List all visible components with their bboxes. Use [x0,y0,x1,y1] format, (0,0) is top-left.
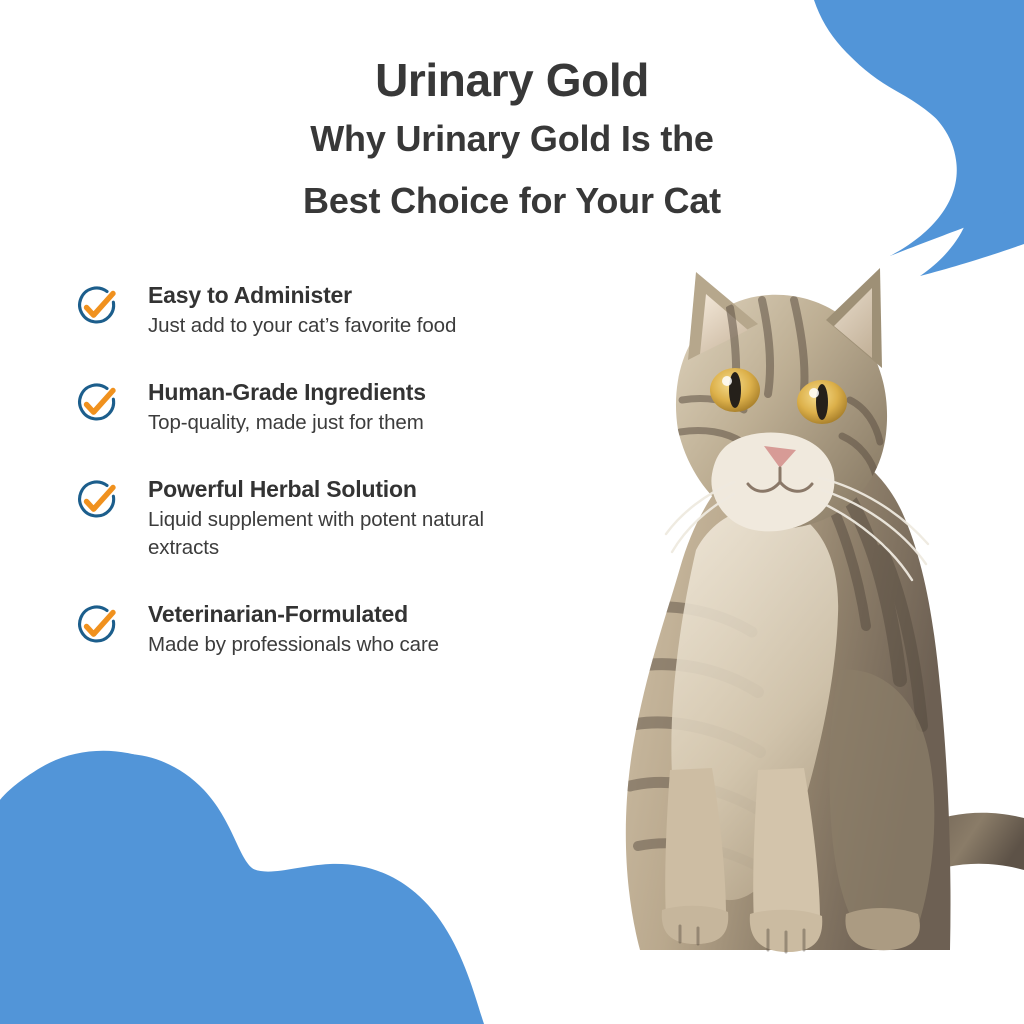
feature-text-block: Powerful Herbal Solution Liquid suppleme… [120,476,508,560]
feature-title: Human-Grade Ingredients [148,379,426,406]
blob-bottom-left [0,754,484,1024]
cat-eye-right-highlight [809,388,819,398]
page-subtitle-line-2: Best Choice for Your Cat [0,168,1024,230]
feature-text-block: Veterinarian-Formulated Made by professi… [120,601,439,658]
headline-block: Urinary Gold Why Urinary Gold Is the Bes… [0,56,1024,230]
feature-list: Easy to Administer Just add to your cat’… [74,282,524,658]
feature-item-powerful-herbal-solution: Powerful Herbal Solution Liquid suppleme… [74,476,524,560]
feature-item-veterinarian-formulated: Veterinarian-Formulated Made by professi… [74,601,524,658]
feature-title: Veterinarian-Formulated [148,601,439,628]
feature-description: Top-quality, made just for them [148,409,426,436]
feature-title: Powerful Herbal Solution [148,476,508,503]
check-circle-icon [74,603,120,649]
cat-eye-left-pupil [729,372,741,408]
cat-eye-left-highlight [722,376,732,386]
check-circle-icon [74,381,120,427]
feature-description: Just add to your cat’s favorite food [148,312,456,339]
cat-photo [520,250,1024,970]
feature-text-block: Human-Grade Ingredients Top-quality, mad… [120,379,426,436]
check-circle-icon [74,284,120,330]
feature-description: Made by professionals who care [148,631,439,658]
feature-description: Liquid supplement with potent natural ex… [148,506,508,560]
page-title: Urinary Gold [0,56,1024,106]
feature-item-human-grade-ingredients: Human-Grade Ingredients Top-quality, mad… [74,379,524,436]
feature-text-block: Easy to Administer Just add to your cat’… [120,282,456,339]
blob-bottom-left-upper [0,751,482,1024]
feature-title: Easy to Administer [148,282,456,309]
page-subtitle-line-1: Why Urinary Gold Is the [0,106,1024,168]
cat-eye-right-pupil [816,384,828,420]
check-circle-icon [74,478,120,524]
feature-item-easy-to-administer: Easy to Administer Just add to your cat’… [74,282,524,339]
product-infographic: Urinary Gold Why Urinary Gold Is the Bes… [0,0,1024,1024]
